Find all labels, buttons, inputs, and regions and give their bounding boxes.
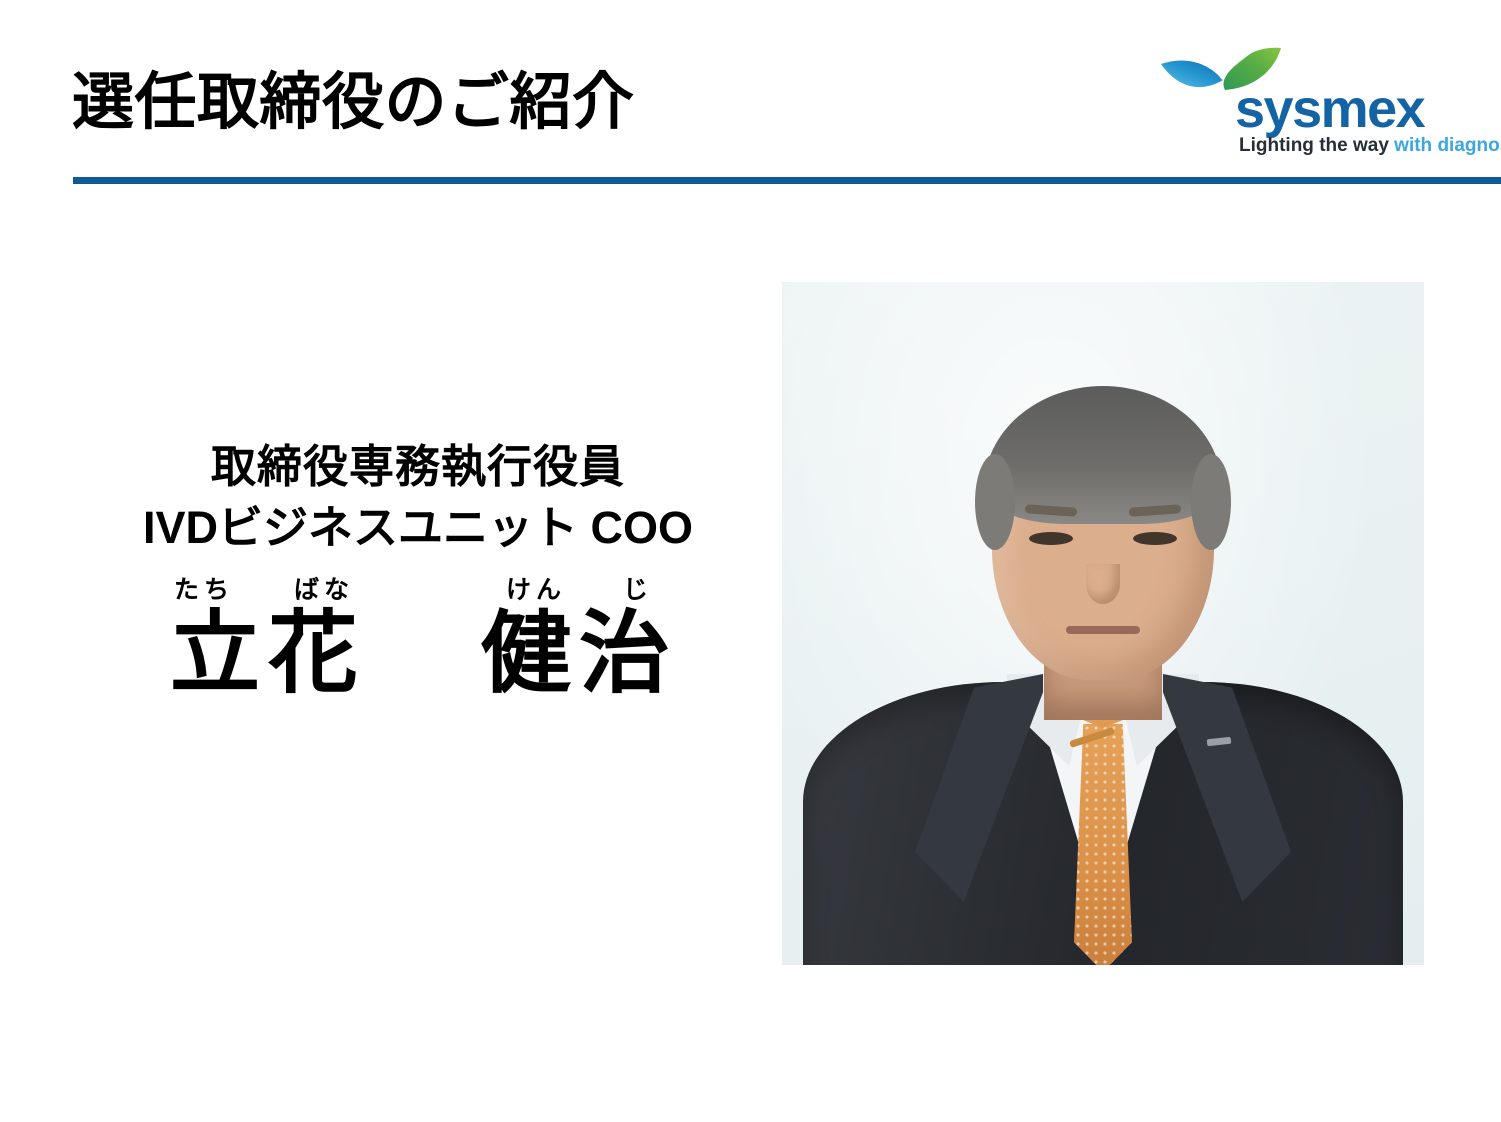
- sysmex-logo: sysmex Lighting the way with diagnostics: [1159, 44, 1459, 160]
- furigana-sei-2: ばな: [264, 578, 384, 603]
- portrait-necktie: [1074, 724, 1132, 965]
- person-name-row: 立花 健治: [150, 607, 686, 702]
- person-given-name: 健治: [477, 607, 681, 702]
- person-role-line-1: 取締役専務執行役員: [73, 440, 763, 495]
- slide-root: 選任取締役のご紹介: [0, 0, 1501, 1122]
- person-portrait-photo: [782, 282, 1424, 965]
- sysmex-tagline: Lighting the way with diagnostics: [1239, 136, 1501, 155]
- person-furigana-row: たち ばな けん じ: [150, 578, 686, 603]
- tagline-primary: Lighting the way: [1239, 135, 1389, 156]
- portrait-mouth: [1066, 626, 1140, 634]
- person-role-line-2: IVDビジネスユニット COO: [73, 501, 763, 556]
- person-name-block: たち ばな けん じ 立花 健治: [150, 578, 686, 702]
- furigana-sei-1: たち: [150, 578, 258, 603]
- title-divider: [73, 177, 1501, 184]
- person-info-block: 取締役専務執行役員 IVDビジネスユニット COO たち ばな けん じ 立花 …: [73, 440, 763, 701]
- furigana-mei-1: けん: [482, 578, 590, 603]
- portrait-hair-side-left: [975, 454, 1015, 550]
- person-family-name: 立花: [155, 607, 381, 702]
- portrait-hair-side-right: [1191, 454, 1231, 550]
- portrait-nose: [1086, 564, 1120, 604]
- tagline-accent: with diagnostics: [1394, 135, 1501, 156]
- furigana-mei-2: じ: [590, 578, 686, 603]
- portrait-eye-left: [1029, 532, 1073, 545]
- portrait-eye-right: [1133, 532, 1177, 545]
- sysmex-wordmark: sysmex: [1235, 82, 1424, 136]
- page-title: 選任取締役のご紹介: [72, 70, 635, 135]
